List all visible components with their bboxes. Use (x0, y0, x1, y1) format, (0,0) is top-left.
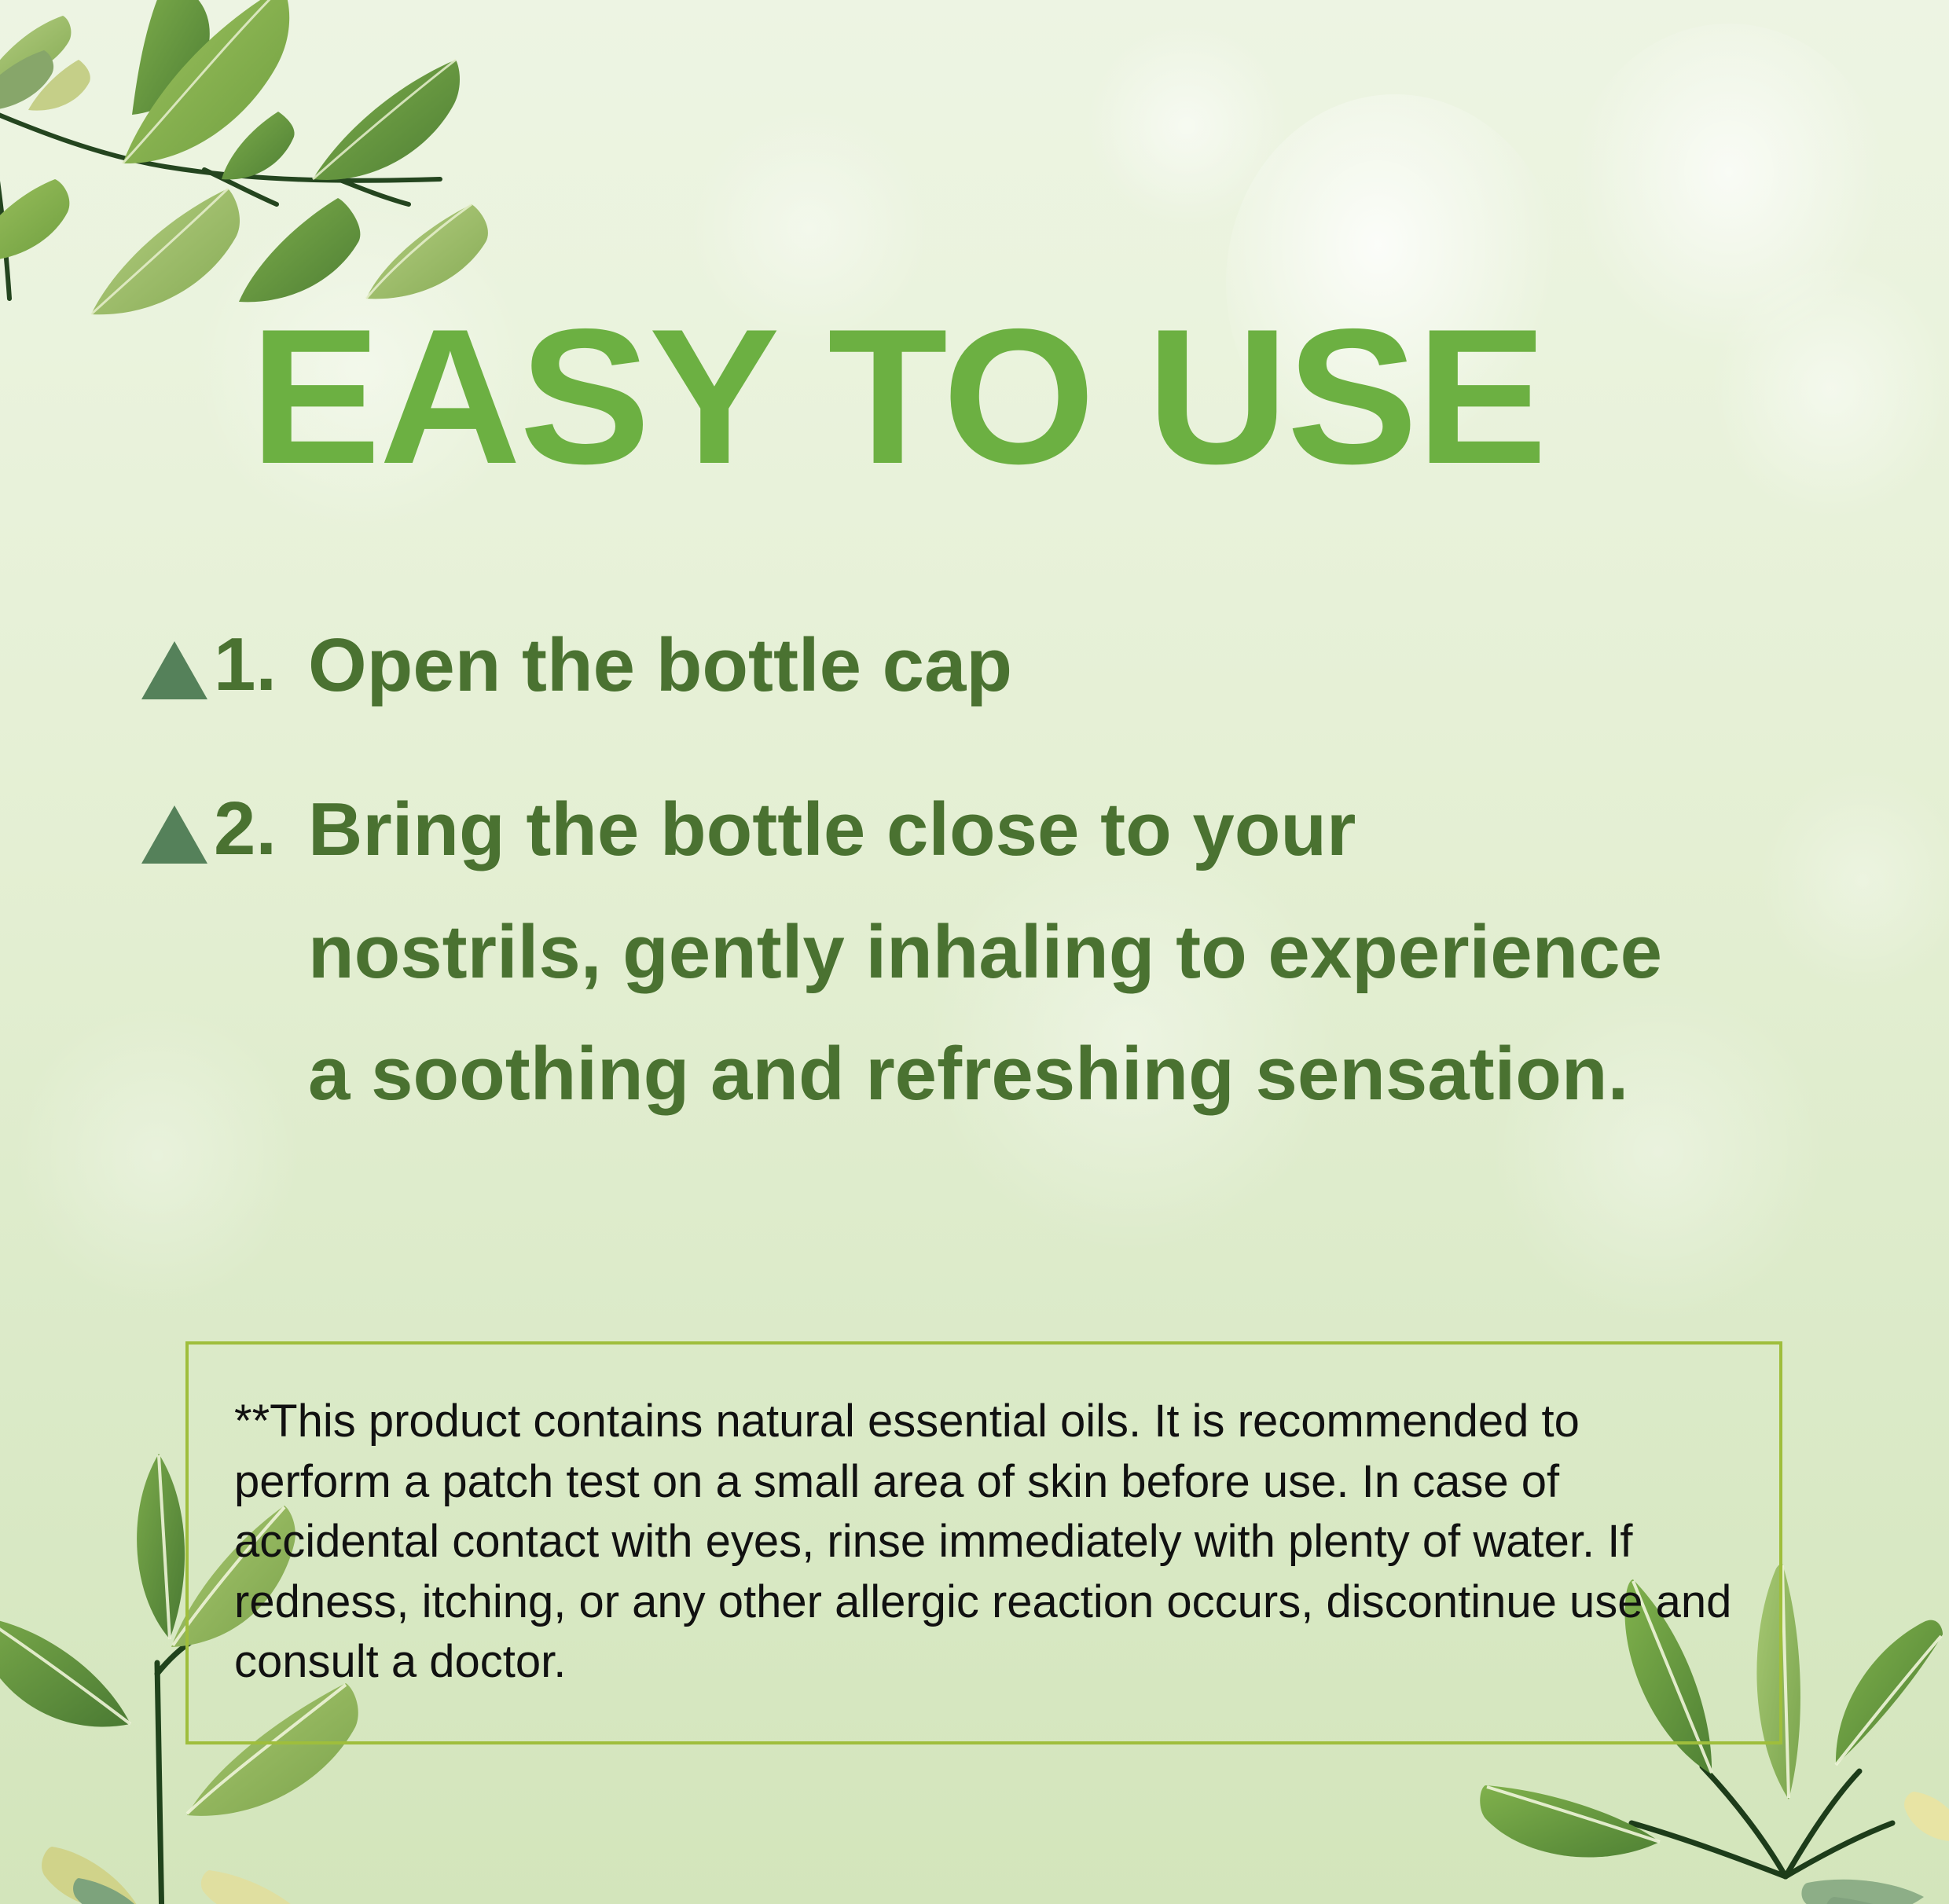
triangle-bullet-icon (141, 805, 214, 864)
step-text-line: Open the bottle cap (308, 621, 1012, 710)
disclaimer-text: **This product contains natural essentia… (189, 1345, 1779, 1693)
poster-canvas: EASY TO USE 1. Open the bottle cap 2. Br… (0, 0, 1949, 1904)
triangle-bullet-icon (141, 641, 214, 699)
step-text: Open the bottle cap (308, 621, 1012, 710)
bokeh-blob (1572, 24, 1886, 354)
bokeh-blob (1085, 24, 1289, 228)
step-text: Bring the bottle close to your nostrils,… (308, 785, 1662, 1118)
step-number: 1. (214, 621, 308, 708)
step-text-line: nostrils, gently inhaling to experience (308, 908, 1662, 996)
bokeh-blob (1713, 259, 1949, 519)
list-item: 1. Open the bottle cap (141, 621, 1855, 710)
page-title: EASY TO USE (250, 300, 1546, 493)
step-text-line: Bring the bottle close to your (308, 785, 1662, 874)
step-number: 2. (214, 785, 308, 872)
step-text-line: a soothing and refreshing sensation. (308, 1029, 1662, 1118)
list-item: 2. Bring the bottle close to your nostri… (141, 785, 1855, 1118)
steps-list: 1. Open the bottle cap 2. Bring the bott… (141, 621, 1855, 1118)
disclaimer-box: **This product contains natural essentia… (185, 1341, 1782, 1744)
